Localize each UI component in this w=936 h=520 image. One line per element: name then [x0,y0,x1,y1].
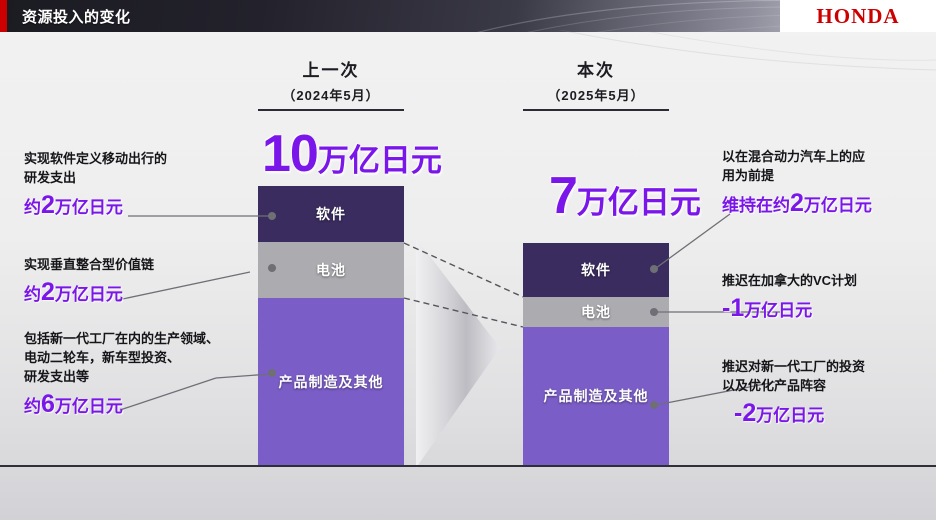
column-title-previous: 上一次 [258,56,404,81]
annotation-software-rd-text: 实现软件定义移动出行的 研发支出 [24,150,240,188]
annotation-hybrid-application-amount: 维持在约2万亿日元 [722,189,930,218]
bar-previous-label-software: 软件 [316,204,346,224]
annotation-plant-investment-delay-value: 2 [742,399,756,427]
annotation-vertical-value-chain-text: 实现垂直整合型价值链 [24,256,240,275]
honda-wordmark: HONDA [816,4,899,29]
total-current-number: 7 [549,167,577,225]
bar-current-label-software: 软件 [581,260,611,280]
chart-baseline [0,465,936,467]
bar-current-segment-software: 软件 [523,243,669,297]
annotation-vertical-value-chain-unit: 万亿日元 [55,285,123,304]
brand-accent-bar [0,0,7,32]
total-previous-number: 10 [262,125,318,183]
annotation-vertical-value-chain: 实现垂直整合型价值链 约2万亿日元 [24,256,240,307]
column-header-previous: 上一次 （2024年5月） [258,56,404,111]
annotation-vertical-value-chain-prefix: 约 [24,285,41,304]
annotation-software-rd-prefix: 约 [24,198,41,217]
column-period-previous: （2024年5月） [258,85,404,104]
bar-previous-segment-battery: 电池 [258,242,404,298]
annotation-hybrid-application-unit: 万亿日元 [804,196,872,215]
transition-arrow-icon [398,238,518,468]
brand-logo: HONDA [780,0,936,32]
slide-root: 资源投入的变化 HONDA 上一次 （2024年5月） 本次 （2025年5月）… [0,0,936,520]
column-header-current: 本次 （2025年5月） [523,56,669,111]
bar-current-segment-battery: 电池 [523,297,669,327]
annotation-plant-investment-delay-unit: 万亿日元 [756,406,824,425]
column-rule-current [523,109,669,111]
bar-previous-label-battery: 电池 [316,260,346,280]
annotation-plant-investment-delay: 推迟对新一代工厂的投资 以及优化产品阵容 -2万亿日元 [722,358,934,428]
annotation-production-and-other-amount: 约6万亿日元 [24,390,252,419]
annotation-canada-vc-delay: 推迟在加拿大的VC计划 -1万亿日元 [722,272,930,323]
annotation-canada-vc-delay-value: 1 [730,294,744,322]
bar-previous-segment-software: 软件 [258,186,404,242]
annotation-production-and-other-prefix: 约 [24,397,41,416]
column-title-current: 本次 [523,56,669,81]
annotation-software-rd-value: 2 [41,191,55,219]
bar-current-label-battery: 电池 [581,302,611,322]
annotation-vertical-value-chain-value: 2 [41,278,55,306]
annotation-plant-investment-delay-amount: -2万亿日元 [734,399,934,428]
bar-current-label-product: 产品制造及其他 [544,386,649,406]
annotation-canada-vc-delay-text: 推迟在加拿大的VC计划 [722,272,930,291]
annotation-software-rd-amount: 约2万亿日元 [24,191,240,220]
column-period-current: （2025年5月） [523,85,669,104]
annotation-hybrid-application-text: 以在混合动力汽车上的应 用为前提 [722,148,930,186]
annotation-hybrid-application-value: 2 [790,189,804,217]
annotation-production-and-other: 包括新一代工厂在内的生产领域、 电动二轮车，新车型投资、 研发支出等 约6万亿日… [24,330,252,419]
column-rule-previous [258,109,404,111]
annotation-hybrid-application: 以在混合动力汽车上的应 用为前提 维持在约2万亿日元 [722,148,930,218]
bar-previous: 软件 电池 产品制造及其他 [258,186,404,465]
annotation-software-rd-unit: 万亿日元 [55,198,123,217]
total-previous: 10万亿日元 [262,124,442,184]
total-previous-unit: 万亿日元 [318,143,442,178]
annotation-production-and-other-unit: 万亿日元 [55,397,123,416]
page-title: 资源投入的变化 [22,6,131,27]
bar-previous-label-product: 产品制造及其他 [279,372,384,392]
annotation-hybrid-application-prefix: 维持在约 [722,196,790,215]
annotation-production-and-other-text: 包括新一代工厂在内的生产领域、 电动二轮车，新车型投资、 研发支出等 [24,330,252,387]
background-swooshes [0,30,936,110]
annotation-plant-investment-delay-text: 推迟对新一代工厂的投资 以及优化产品阵容 [722,358,934,396]
annotation-vertical-value-chain-amount: 约2万亿日元 [24,278,240,307]
bar-current: 软件 电池 产品制造及其他 [523,243,669,465]
total-current-unit: 万亿日元 [577,185,701,220]
annotation-software-rd: 实现软件定义移动出行的 研发支出 约2万亿日元 [24,150,240,220]
bar-previous-segment-product: 产品制造及其他 [258,298,404,465]
annotation-production-and-other-value: 6 [41,390,55,418]
annotation-canada-vc-delay-unit: 万亿日元 [744,301,812,320]
annotation-canada-vc-delay-amount: -1万亿日元 [722,294,930,323]
total-current: 7万亿日元 [549,166,701,226]
bar-current-segment-product: 产品制造及其他 [523,327,669,465]
